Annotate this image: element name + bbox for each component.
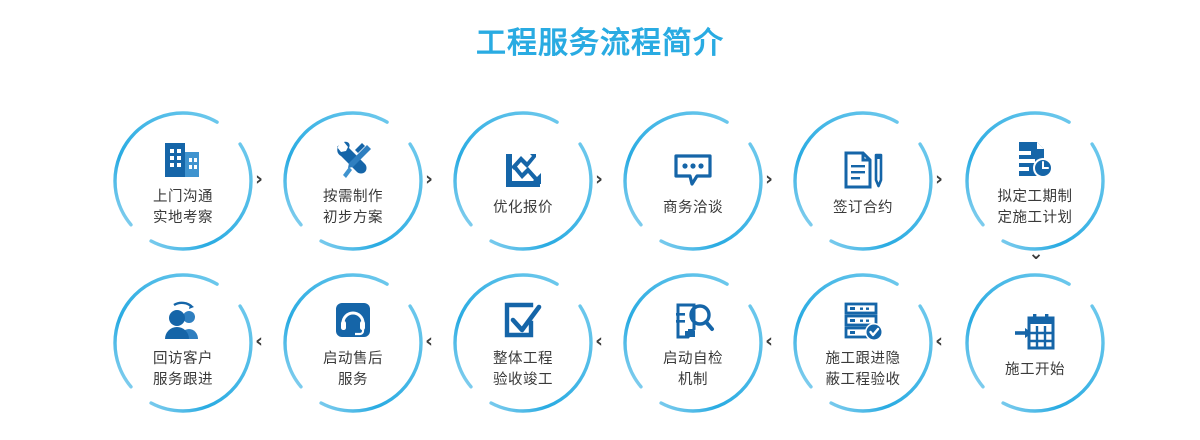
flow-node-2-5[interactable]: 施工跟进隐 蔽工程验收 [790,270,936,416]
flow-node-1-2[interactable]: 按需制作 初步方案 [280,108,426,254]
document-clock-icon [1012,137,1058,181]
flow-node-2-6[interactable]: 施工开始 [962,270,1108,416]
checkbox-check-icon [500,299,546,343]
page-title: 工程服务流程简介 [0,22,1200,66]
node-label-line2: 服务 [338,370,368,391]
flow-node-2-2[interactable]: 启动售后 服务 [280,270,426,416]
node-content: 优化报价 [450,108,596,254]
connector-chevron-left: ‹ [418,328,440,354]
node-content: 上门沟通 实地考察 [110,108,256,254]
node-label-line1: 整体工程 [493,349,553,370]
connector-chevron-left: ‹ [248,328,270,354]
speech-bubble-icon [670,148,716,192]
node-label-line1: 施工跟进隐 [826,349,901,370]
node-label-line1: 商务洽谈 [663,198,723,219]
connector-chevron-right: › [248,166,270,192]
connector-chevron-right: › [928,166,950,192]
server-verified-icon [840,299,886,343]
declining-chart-icon [500,148,546,192]
flow-node-2-3[interactable]: 整体工程 验收竣工 [450,270,596,416]
node-content: 回访客户 服务跟进 [110,270,256,416]
flow-node-2-4[interactable]: 启动自检 机制 [620,270,766,416]
node-label-line1: 签订合约 [833,198,893,219]
node-label-line2: 机制 [678,370,708,391]
headset-support-icon [330,299,376,343]
node-content: 启动自检 机制 [620,270,766,416]
flow-node-2-1[interactable]: 回访客户 服务跟进 [110,270,256,416]
connector-chevron-right: › [418,166,440,192]
node-label-line1: 按需制作 [323,187,383,208]
flow-node-1-5[interactable]: 签订合约 [790,108,936,254]
connector-chevron-right: › [758,166,780,192]
document-magnifier-icon [670,299,716,343]
two-people-icon [160,299,206,343]
node-content: 签订合约 [790,108,936,254]
contract-pen-icon [840,148,886,192]
node-label-line2: 实地考察 [153,208,213,229]
flow-node-1-1[interactable]: 上门沟通 实地考察 [110,108,256,254]
connector-chevron-left: ‹ [758,328,780,354]
node-label-line1: 优化报价 [493,198,553,219]
node-label-line1: 上门沟通 [153,187,213,208]
node-content: 整体工程 验收竣工 [450,270,596,416]
connector-chevron-left: ‹ [928,328,950,354]
node-label-line2: 验收竣工 [493,370,553,391]
node-content: 施工跟进隐 蔽工程验收 [790,270,936,416]
node-label-line1: 启动自检 [663,349,723,370]
flow-row-2: 回访客户 服务跟进 ‹ 启动售后 服务 ‹ [0,262,1200,422]
flow-node-1-3[interactable]: 优化报价 [450,108,596,254]
node-label-line1: 拟定工期制 [998,187,1073,208]
connector-chevron-right: › [588,166,610,192]
node-label-line2: 服务跟进 [153,370,213,391]
node-content: 按需制作 初步方案 [280,108,426,254]
node-label-line1: 回访客户 [153,349,213,370]
office-building-icon [160,137,206,181]
node-label-line2: 初步方案 [323,208,383,229]
flow-row-1: 上门沟通 实地考察 › 按需制作 初步方案 › [0,100,1200,260]
node-content: 商务洽谈 [620,108,766,254]
node-label-line1: 施工开始 [1005,360,1065,381]
flow-node-1-6[interactable]: 拟定工期制 定施工计划 [962,108,1108,254]
node-content: 启动售后 服务 [280,270,426,416]
wrench-screwdriver-icon [330,137,376,181]
node-content: 拟定工期制 定施工计划 [962,108,1108,254]
connector-chevron-left: ‹ [588,328,610,354]
node-label-line2: 蔽工程验收 [826,370,901,391]
node-label-line1: 启动售后 [323,349,383,370]
flow-node-1-4[interactable]: 商务洽谈 [620,108,766,254]
calendar-start-icon [1012,310,1058,354]
node-label-line2: 定施工计划 [998,208,1073,229]
node-content: 施工开始 [962,270,1108,416]
